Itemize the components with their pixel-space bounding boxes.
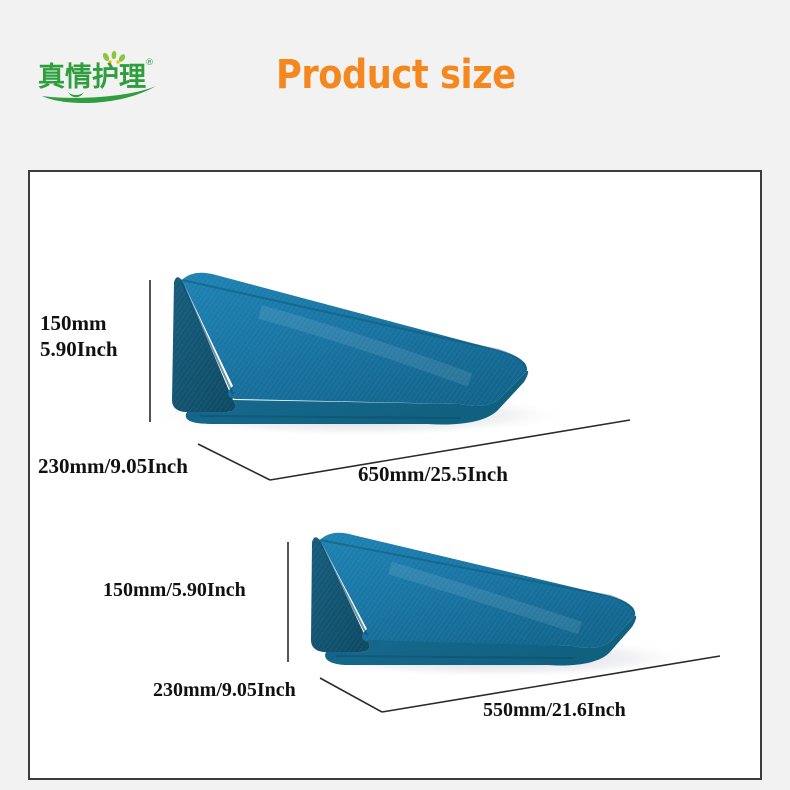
registered-trademark-icon: ® [145,58,154,68]
small-pillow-depth-label: 230mm/9.05Inch [153,678,296,703]
logo-wordmark: 真情护理 [38,62,146,93]
small-pillow-height-label: 150mm/5.90Inch [103,578,246,603]
large-pillow-depth-label: 230mm/9.05Inch [38,453,188,479]
small-wedge-pillow [305,533,695,678]
large-height-mm: 150mm [40,310,118,336]
large-height-inch: 5.90Inch [40,336,118,362]
page-header: 真情护理 ® Product size [0,0,790,160]
small-pillow-width-label: 550mm/21.6Inch [483,698,626,723]
brand-logo: 真情护理 ® [36,48,162,106]
large-pillow-height-label: 150mm 5.90Inch [40,310,118,363]
large-pillow-width-label: 650mm/25.5Inch [358,461,508,487]
large-wedge-pillow [145,273,575,437]
large-depth-line [198,444,270,480]
small-depth-line [320,678,382,712]
page-title: Product size [276,50,516,100]
